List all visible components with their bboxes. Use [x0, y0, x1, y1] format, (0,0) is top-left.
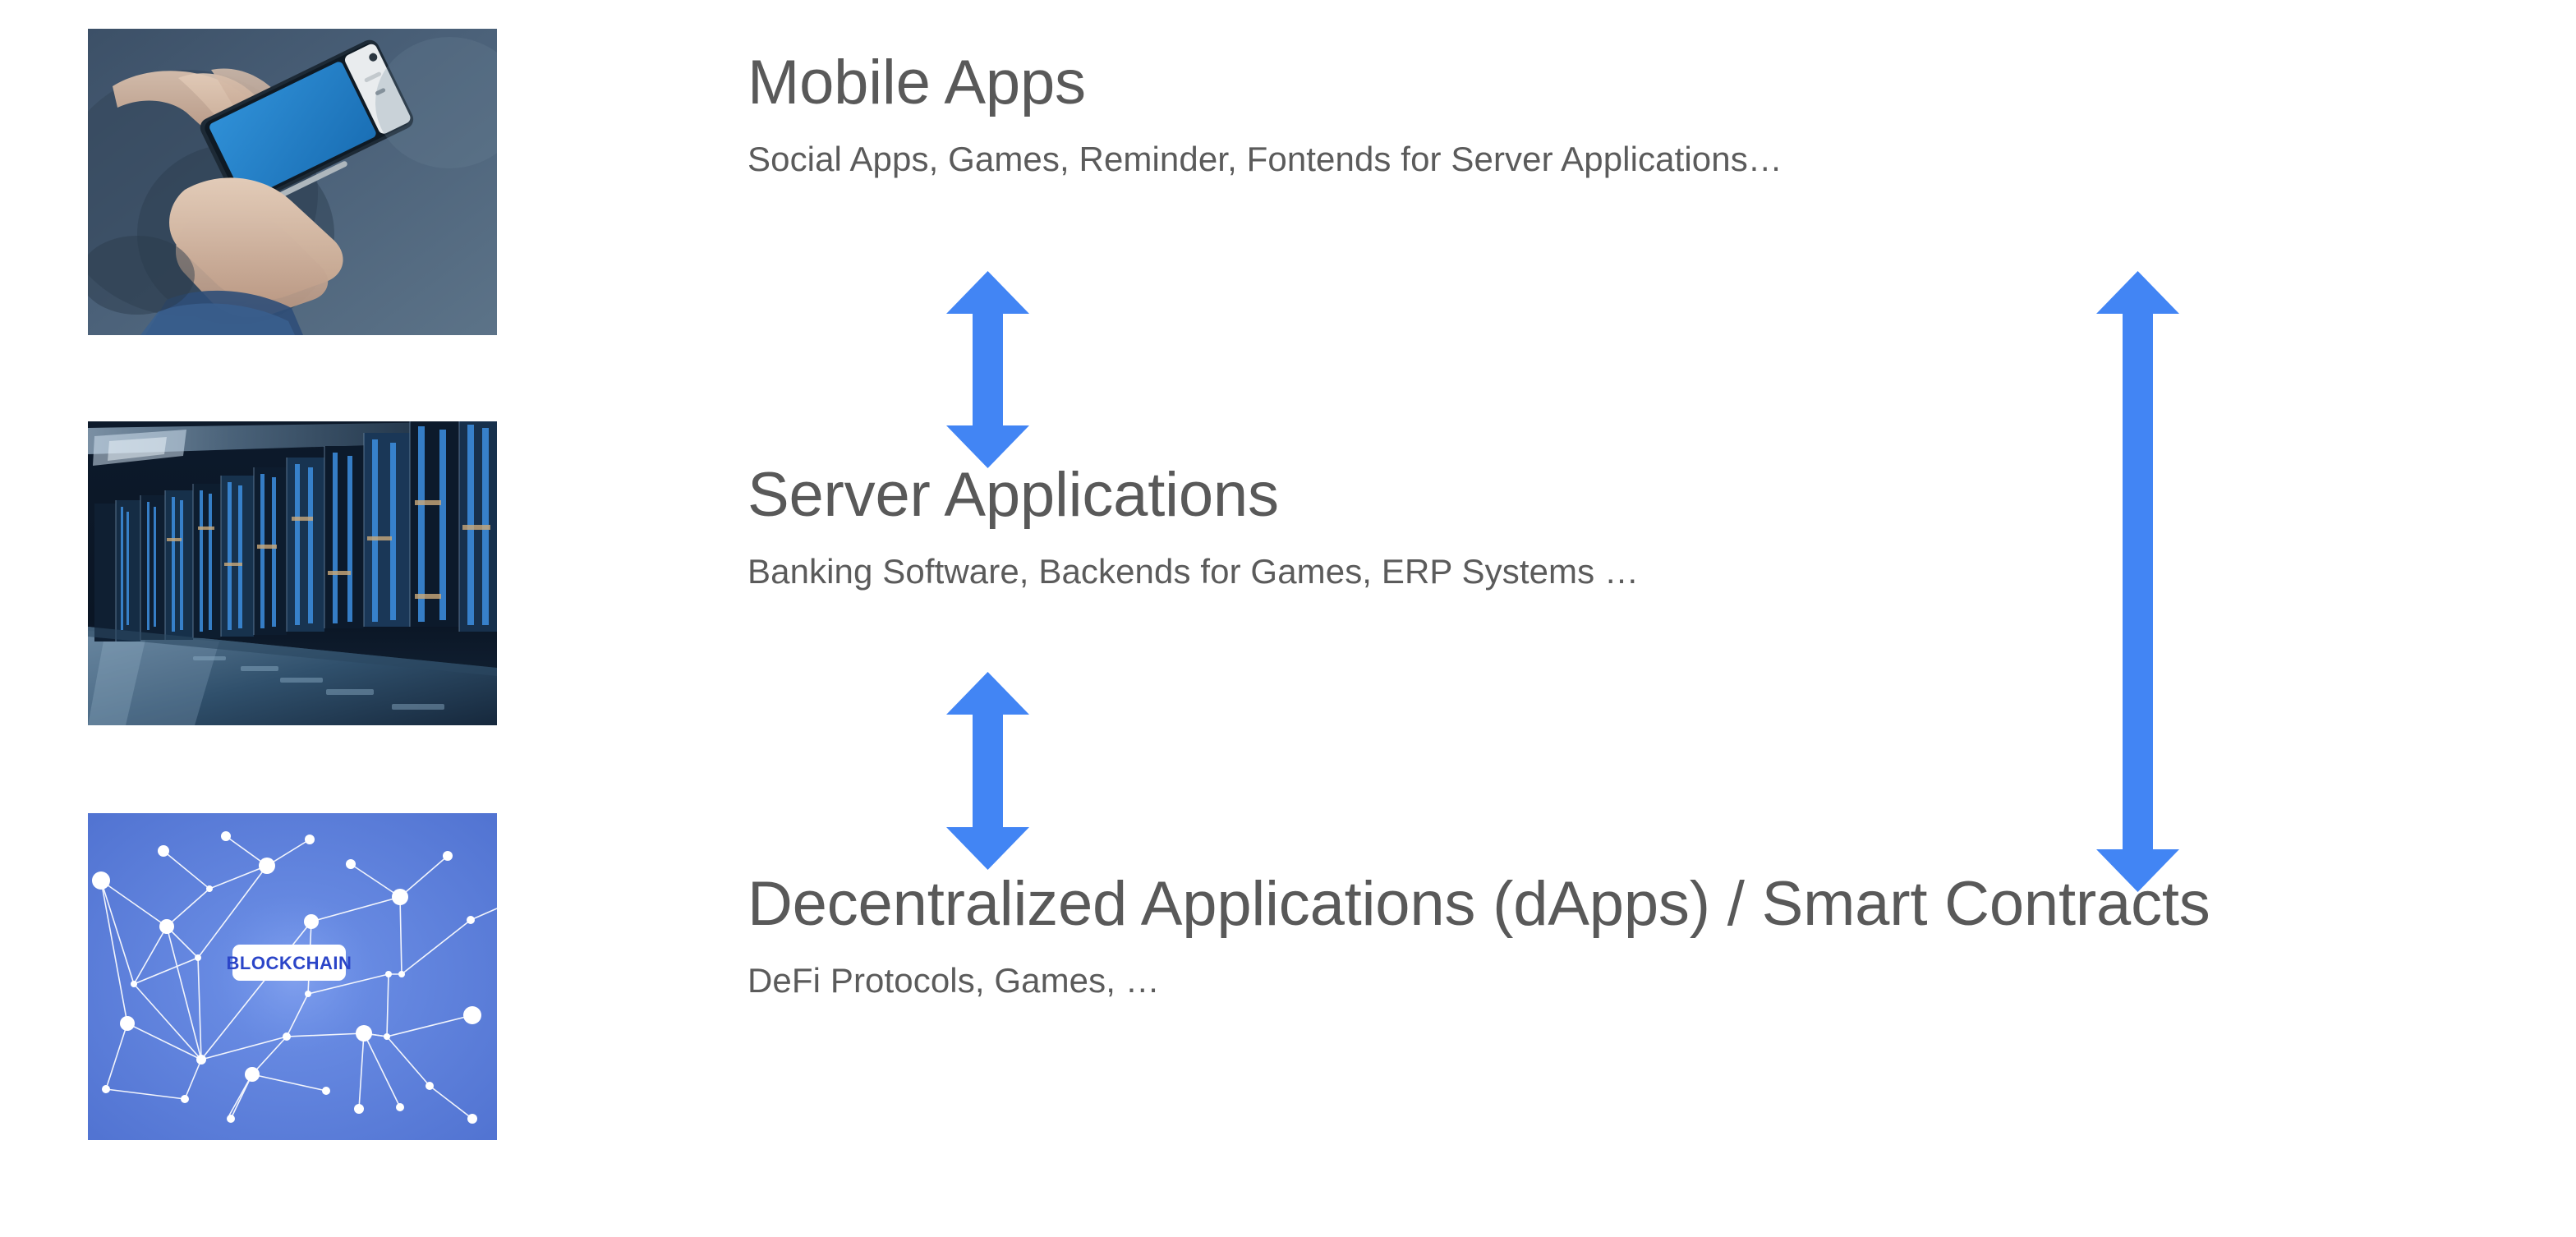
subtitle-dapps: DeFi Protocols, Games, … [747, 960, 2210, 1001]
heading-mobile-apps: Mobile Apps [747, 48, 1782, 117]
server-applications-photo [88, 421, 497, 725]
arrow-mobile-to-server [946, 271, 1029, 468]
subtitle-server-applications: Banking Software, Backends for Games, ER… [747, 551, 1639, 592]
mobile-apps-photo-graphic [88, 29, 497, 335]
arrow-server-to-dapps [946, 672, 1029, 870]
blockchain-photo-graphic: BLOCKCHAIN [88, 813, 497, 1140]
heading-dapps: Decentralized Applications (dApps) / Sma… [747, 869, 2210, 939]
heading-server-applications: Server Applications [747, 460, 1639, 530]
server-applications-photo-graphic [88, 421, 497, 725]
mobile-apps-photo [88, 29, 497, 335]
blockchain-label: BLOCKCHAIN [227, 953, 352, 973]
slide-canvas: BLOCKCHAIN Mobile Apps Social Apps, Game… [0, 0, 2576, 1237]
double-arrow-vertical-icon [946, 271, 1029, 468]
blockchain-photo: BLOCKCHAIN [88, 813, 497, 1140]
double-arrow-vertical-icon [946, 672, 1029, 870]
arrow-mobile-to-dapps [2096, 271, 2179, 892]
content-block-server-applications: Server Applications Banking Software, Ba… [747, 460, 1639, 593]
double-arrow-vertical-icon [2096, 271, 2179, 892]
subtitle-mobile-apps: Social Apps, Games, Reminder, Fontends f… [747, 139, 1782, 180]
content-block-mobile-apps: Mobile Apps Social Apps, Games, Reminder… [747, 48, 1782, 181]
content-block-dapps: Decentralized Applications (dApps) / Sma… [747, 869, 2210, 1002]
